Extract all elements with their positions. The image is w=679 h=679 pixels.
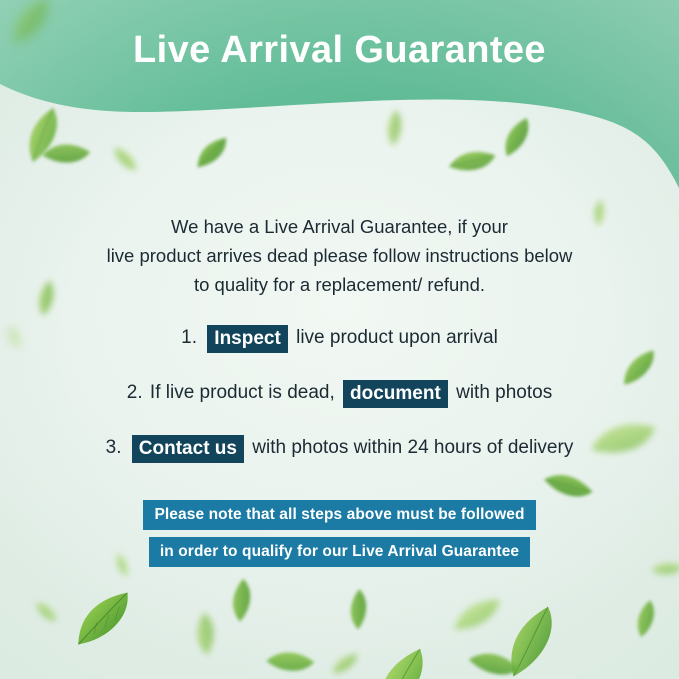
step-number: 3. [106, 437, 122, 458]
step-number: 1. [181, 327, 197, 348]
intro-line-3: to quality for a replacement/ refund. [0, 270, 679, 299]
step-text-after: live product upon arrival [296, 327, 498, 348]
step-highlight-document: document [343, 380, 448, 408]
step-number: 2. [127, 382, 143, 403]
notice-line-1: Please note that all steps above must be… [143, 500, 535, 530]
step-highlight-inspect: Inspect [207, 325, 288, 353]
notice-block: Please note that all steps above must be… [0, 500, 679, 574]
intro-paragraph: We have a Live Arrival Guarantee, if you… [0, 212, 679, 299]
notice-line-2: in order to qualify for our Live Arrival… [149, 537, 530, 567]
step-text-after: with photos within 24 hours of delivery [252, 437, 573, 458]
steps-list: 1. Inspect live product upon arrival 2. … [0, 322, 679, 487]
intro-line-2: live product arrives dead please follow … [0, 241, 679, 270]
page-title: Live Arrival Guarantee [0, 30, 679, 72]
intro-line-1: We have a Live Arrival Guarantee, if you… [0, 212, 679, 241]
step-text-after: with photos [456, 382, 552, 403]
step-item-2: 2. If live product is dead, document wit… [0, 377, 679, 409]
step-highlight-contact-us: Contact us [132, 435, 244, 463]
step-item-1: 1. Inspect live product upon arrival [0, 322, 679, 354]
live-arrival-guarantee-poster: Live Arrival Guarantee We have a Live Ar… [0, 0, 679, 679]
step-item-3: 3. Contact us with photos within 24 hour… [0, 432, 679, 464]
step-text-before: If live product is dead, [150, 382, 335, 403]
